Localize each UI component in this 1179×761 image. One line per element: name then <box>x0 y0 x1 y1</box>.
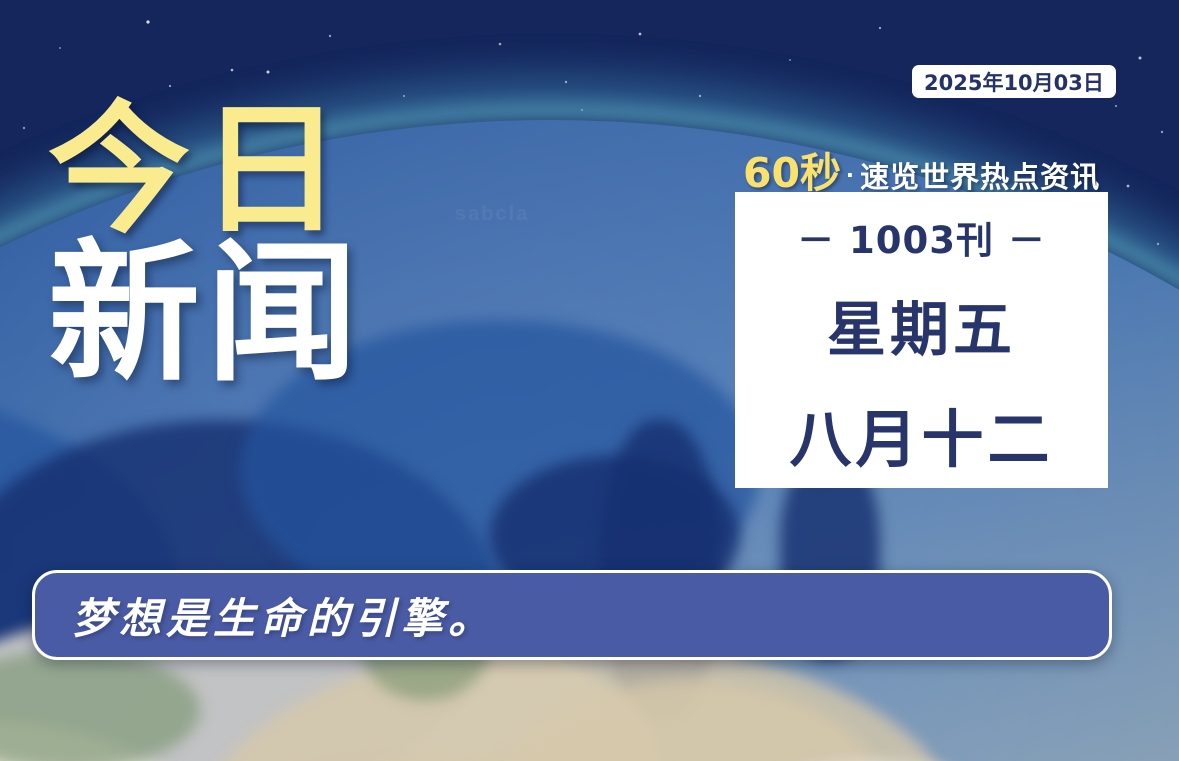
quote-text: 梦想是生命的引擎。 <box>72 585 495 646</box>
title-line-xinwen: 新闻 <box>48 233 364 394</box>
info-card: － 1003刊 － 星期五 八月十二 <box>735 192 1108 488</box>
news-poster: sabcla 今日 新闻 2025年10月03日 60秒 · 速览世界热点资讯 … <box>0 0 1179 761</box>
issue-number: － 1003刊 － <box>797 210 1046 264</box>
page-title: 今日 新闻 <box>48 96 364 394</box>
lunar-date-label: 八月十二 <box>789 389 1053 479</box>
watermark: sabcla <box>455 203 529 226</box>
title-line-jinri: 今日 <box>48 96 364 247</box>
tagline-text: 速览世界热点资讯 <box>860 154 1100 196</box>
tagline-separator: · <box>846 160 855 191</box>
weekday-label: 星期五 <box>827 282 1016 367</box>
date-badge: 2025年10月03日 <box>912 65 1116 98</box>
tagline: 60秒 · 速览世界热点资讯 <box>743 139 1100 199</box>
quote-bar: 梦想是生命的引擎。 <box>32 570 1112 660</box>
tagline-seconds: 60秒 <box>743 139 841 199</box>
date-badge-label: 2025年10月03日 <box>924 67 1104 97</box>
